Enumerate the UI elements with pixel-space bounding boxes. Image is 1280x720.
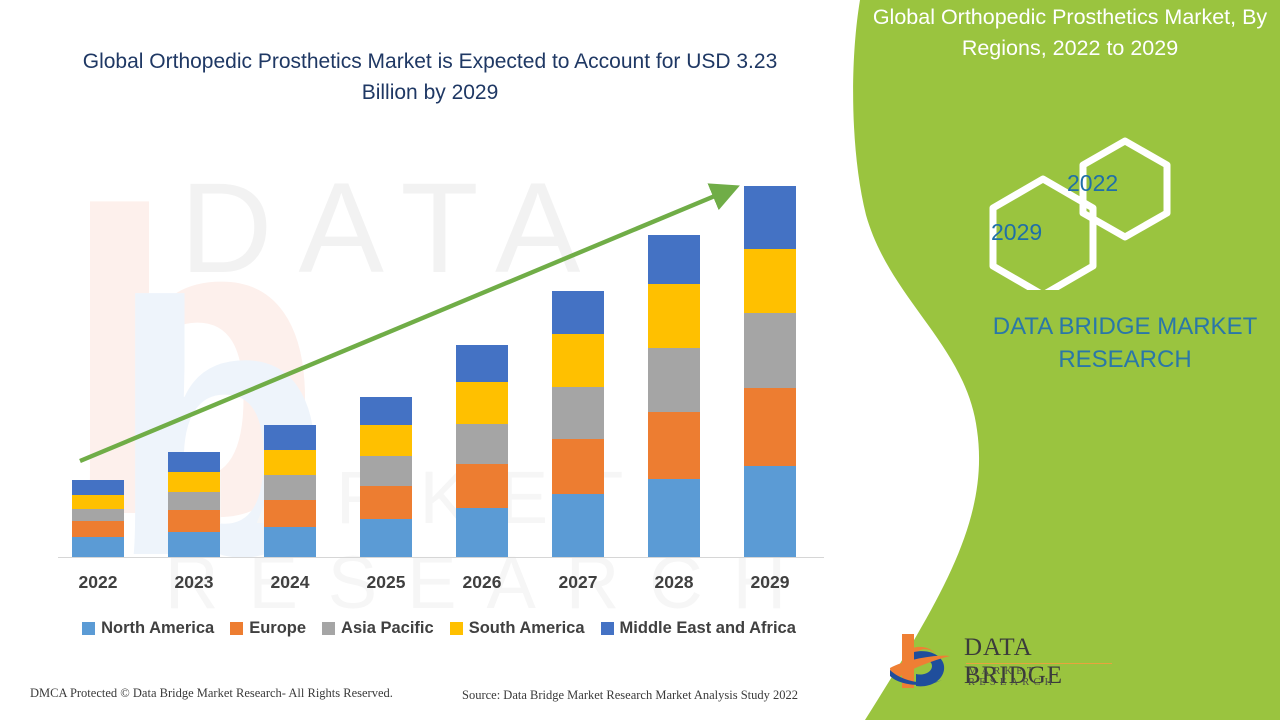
bar-segment-north-america[interactable]: [744, 466, 796, 557]
hexagon-label-end: 2029: [991, 219, 1042, 246]
bar-segment-europe[interactable]: [264, 500, 316, 528]
bar-2022[interactable]: [72, 480, 124, 557]
legend-swatch-icon: [82, 622, 95, 635]
legend-item-middle-east-and-africa[interactable]: Middle East and Africa: [601, 619, 796, 638]
x-axis-label-2029: 2029: [734, 572, 806, 593]
bar-segment-asia-pacific[interactable]: [552, 387, 604, 439]
bar-segment-north-america[interactable]: [648, 479, 700, 557]
legend-item-europe[interactable]: Europe: [230, 619, 306, 638]
x-axis-label-2023: 2023: [158, 572, 230, 593]
chart-legend: North AmericaEuropeAsia PacificSouth Ame…: [62, 615, 832, 641]
bar-segment-europe[interactable]: [744, 388, 796, 466]
bar-segment-middle-east-and-africa[interactable]: [456, 345, 508, 383]
bar-segment-middle-east-and-africa[interactable]: [360, 397, 412, 425]
company-logo: DATA BRIDGE MARKET RESEARCH: [888, 630, 1118, 692]
bar-2025[interactable]: [360, 397, 412, 557]
legend-label: Middle East and Africa: [620, 619, 796, 638]
bar-segment-europe[interactable]: [456, 464, 508, 508]
x-axis-labels: 20222023202420252026202720282029: [58, 572, 824, 600]
bar-segment-south-america[interactable]: [648, 284, 700, 348]
x-axis-label-2028: 2028: [638, 572, 710, 593]
bar-segment-asia-pacific[interactable]: [360, 456, 412, 486]
bar-segment-europe[interactable]: [648, 412, 700, 479]
hexagon-label-start: 2022: [1067, 170, 1118, 197]
bar-segment-south-america[interactable]: [456, 382, 508, 423]
bar-segment-south-america[interactable]: [72, 495, 124, 509]
bar-2029[interactable]: [744, 186, 796, 557]
bar-segment-europe[interactable]: [360, 486, 412, 519]
bar-segment-europe[interactable]: [552, 439, 604, 494]
legend-swatch-icon: [230, 622, 243, 635]
bar-segment-asia-pacific[interactable]: [648, 348, 700, 412]
logo-divider: [966, 663, 1112, 664]
bar-segment-north-america[interactable]: [552, 494, 604, 557]
legend-swatch-icon: [601, 622, 614, 635]
bar-segment-north-america[interactable]: [264, 527, 316, 557]
legend-label: South America: [469, 619, 585, 638]
legend-swatch-icon: [322, 622, 335, 635]
footer-source: Source: Data Bridge Market Research Mark…: [462, 688, 798, 703]
bar-segment-north-america[interactable]: [168, 532, 220, 557]
bar-segment-middle-east-and-africa[interactable]: [648, 235, 700, 283]
brand-name-panel: DATA BRIDGE MARKET RESEARCH: [960, 310, 1280, 376]
growth-arrow-icon: [0, 0, 870, 600]
infographic-canvas: b b DATA MARKET RESEARCH Global Orthoped…: [0, 0, 1280, 720]
bar-segment-europe[interactable]: [72, 521, 124, 537]
bar-segment-asia-pacific[interactable]: [456, 424, 508, 464]
x-axis-label-2025: 2025: [350, 572, 422, 593]
bar-segment-europe[interactable]: [168, 510, 220, 532]
bar-2023[interactable]: [168, 452, 220, 557]
x-axis-label-2024: 2024: [254, 572, 326, 593]
bar-segment-asia-pacific[interactable]: [744, 313, 796, 388]
legend-label: Asia Pacific: [341, 619, 434, 638]
bar-segment-asia-pacific[interactable]: [168, 492, 220, 510]
bar-segment-south-america[interactable]: [744, 249, 796, 313]
bar-segment-south-america[interactable]: [552, 334, 604, 387]
logo-mark-icon: [888, 630, 960, 692]
bar-segment-south-america[interactable]: [168, 472, 220, 492]
bar-segment-middle-east-and-africa[interactable]: [168, 452, 220, 472]
legend-label: Europe: [249, 619, 306, 638]
bar-segment-middle-east-and-africa[interactable]: [744, 186, 796, 249]
bar-2024[interactable]: [264, 425, 316, 557]
bar-segment-asia-pacific[interactable]: [72, 509, 124, 522]
legend-item-north-america[interactable]: North America: [82, 619, 214, 638]
bar-segment-south-america[interactable]: [360, 425, 412, 456]
bar-segment-asia-pacific[interactable]: [264, 475, 316, 499]
legend-item-asia-pacific[interactable]: Asia Pacific: [322, 619, 434, 638]
legend-label: North America: [101, 619, 214, 638]
x-axis-label-2022: 2022: [62, 572, 134, 593]
bar-segment-middle-east-and-africa[interactable]: [72, 480, 124, 495]
logo-subtitle-text: MARKET RESEARCH: [968, 666, 1118, 688]
panel-title: Global Orthopedic Prosthetics Market, By…: [855, 2, 1280, 64]
bar-2027[interactable]: [552, 291, 604, 557]
chart-plot-area: 20222023202420252026202720282029: [0, 0, 870, 600]
footer-copyright: DMCA Protected © Data Bridge Market Rese…: [30, 686, 393, 701]
bar-2028[interactable]: [648, 235, 700, 557]
bar-segment-south-america[interactable]: [264, 450, 316, 475]
bar-segment-middle-east-and-africa[interactable]: [552, 291, 604, 335]
bar-segment-north-america[interactable]: [360, 519, 412, 557]
legend-swatch-icon: [450, 622, 463, 635]
bar-segment-north-america[interactable]: [456, 508, 508, 557]
hexagon-pair: 2022 2029: [975, 135, 1190, 290]
legend-item-south-america[interactable]: South America: [450, 619, 585, 638]
bar-segment-middle-east-and-africa[interactable]: [264, 425, 316, 450]
x-axis-line: [58, 557, 824, 558]
bar-segment-north-america[interactable]: [72, 537, 124, 557]
bar-2026[interactable]: [456, 345, 508, 557]
x-axis-label-2026: 2026: [446, 572, 518, 593]
x-axis-label-2027: 2027: [542, 572, 614, 593]
